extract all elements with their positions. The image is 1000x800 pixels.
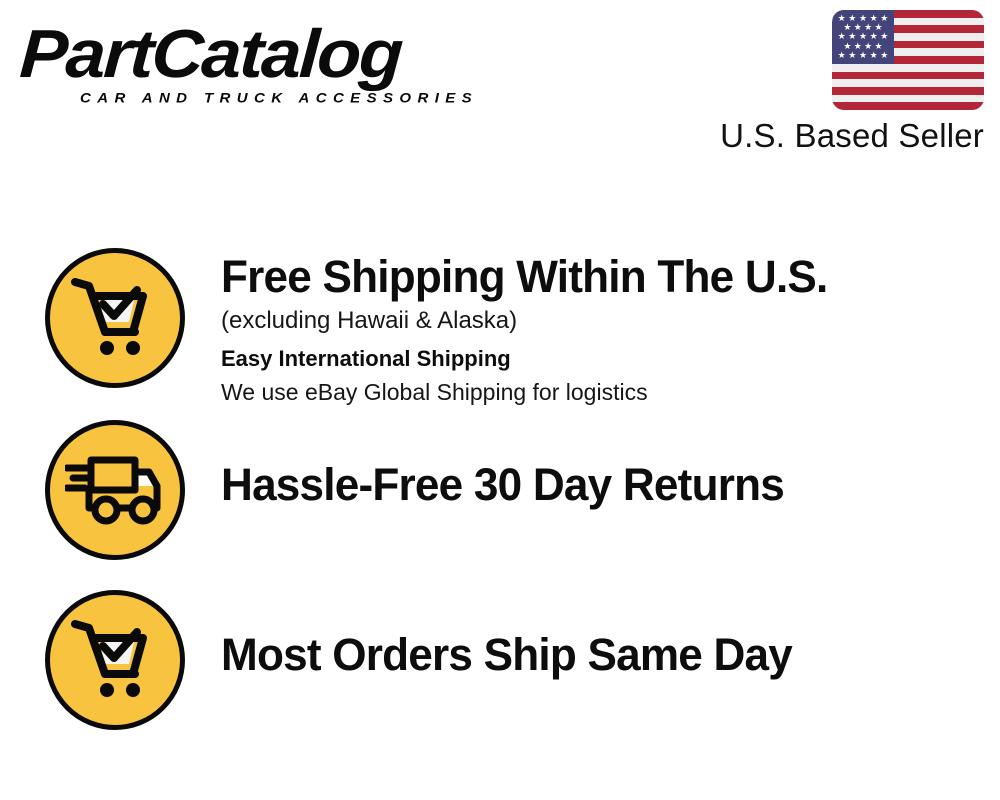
brand-tagline: CAR AND TRUCK ACCESSORIES <box>80 90 478 106</box>
benefit-row: Hassle-Free 30 Day Returns <box>0 420 1000 560</box>
benefit-heading: Free Shipping Within The U.S. <box>221 250 984 304</box>
benefit-note-text: We use eBay Global Shipping for logistic… <box>221 376 1000 408</box>
benefit-row: Free Shipping Within The U.S. (excluding… <box>0 248 1000 408</box>
us-flag-icon: ★★★★★ ★★★★ ★★★★★ ★★★★ ★★★★★ <box>832 10 984 110</box>
delivery-truck-icon <box>45 420 185 560</box>
benefit-subtext: (excluding Hawaii & Alaska) <box>221 304 1000 338</box>
shopping-cart-check-icon <box>45 248 185 388</box>
benefit-heading: Most Orders Ship Same Day <box>221 628 984 682</box>
benefit-row: Most Orders Ship Same Day <box>0 590 1000 730</box>
page-header: PartCatalog CAR AND TRUCK ACCESSORIES ★★… <box>0 0 1000 170</box>
benefit-heading: Hassle-Free 30 Day Returns <box>221 458 984 512</box>
brand-logo[interactable]: PartCatalog CAR AND TRUCK ACCESSORIES <box>22 18 492 114</box>
benefit-text-block: Most Orders Ship Same Day <box>185 590 1000 682</box>
benefit-text-block: Hassle-Free 30 Day Returns <box>185 420 1000 512</box>
brand-wordmark: PartCatalog <box>18 18 520 90</box>
flag-canton: ★★★★★ ★★★★ ★★★★★ ★★★★ ★★★★★ <box>832 10 894 64</box>
benefit-text-block: Free Shipping Within The U.S. (excluding… <box>185 248 1000 408</box>
seller-label: U.S. Based Seller <box>702 117 984 155</box>
shopping-cart-check-icon <box>45 590 185 730</box>
benefit-strong-text: Easy International Shipping <box>221 342 1000 376</box>
us-based-seller-badge: ★★★★★ ★★★★ ★★★★★ ★★★★ ★★★★★ U.S. Based S… <box>702 10 992 155</box>
flag-stars: ★★★★★ ★★★★ ★★★★★ ★★★★ ★★★★★ <box>832 10 894 64</box>
